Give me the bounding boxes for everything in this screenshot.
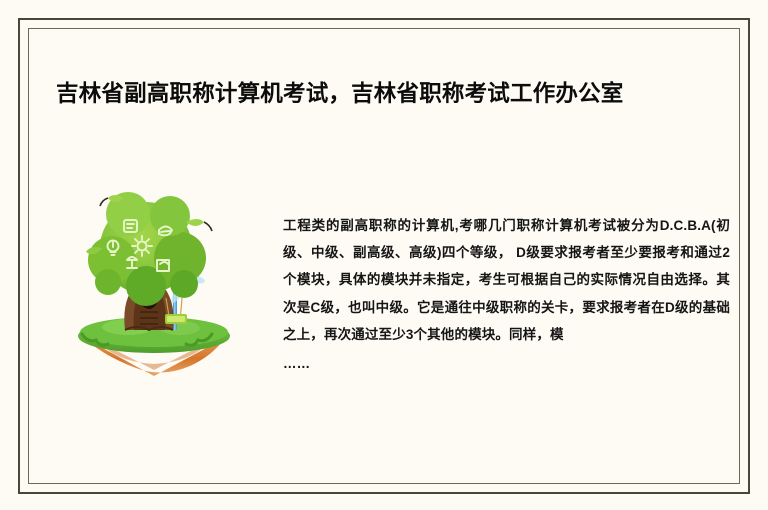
page-title: 吉林省副高职称计算机考试，吉林省职称考试工作办公室 — [56, 79, 716, 109]
article-truncation-mark: …… — [283, 348, 730, 377]
page-root: 吉林省副高职称计算机考试，吉林省职称考试工作办公室 — [0, 0, 768, 510]
tree-canopy-icon — [88, 192, 206, 306]
article-paragraph: 工程类的副高职称的计算机,考哪几门职称计算机考试被分为D.C.B.A(初级、中级… — [283, 212, 730, 348]
article-illustration — [62, 186, 247, 376]
article-body: 工程类的副高职称的计算机,考哪几门职称计算机考试被分为D.C.B.A(初级、中级… — [283, 212, 730, 377]
